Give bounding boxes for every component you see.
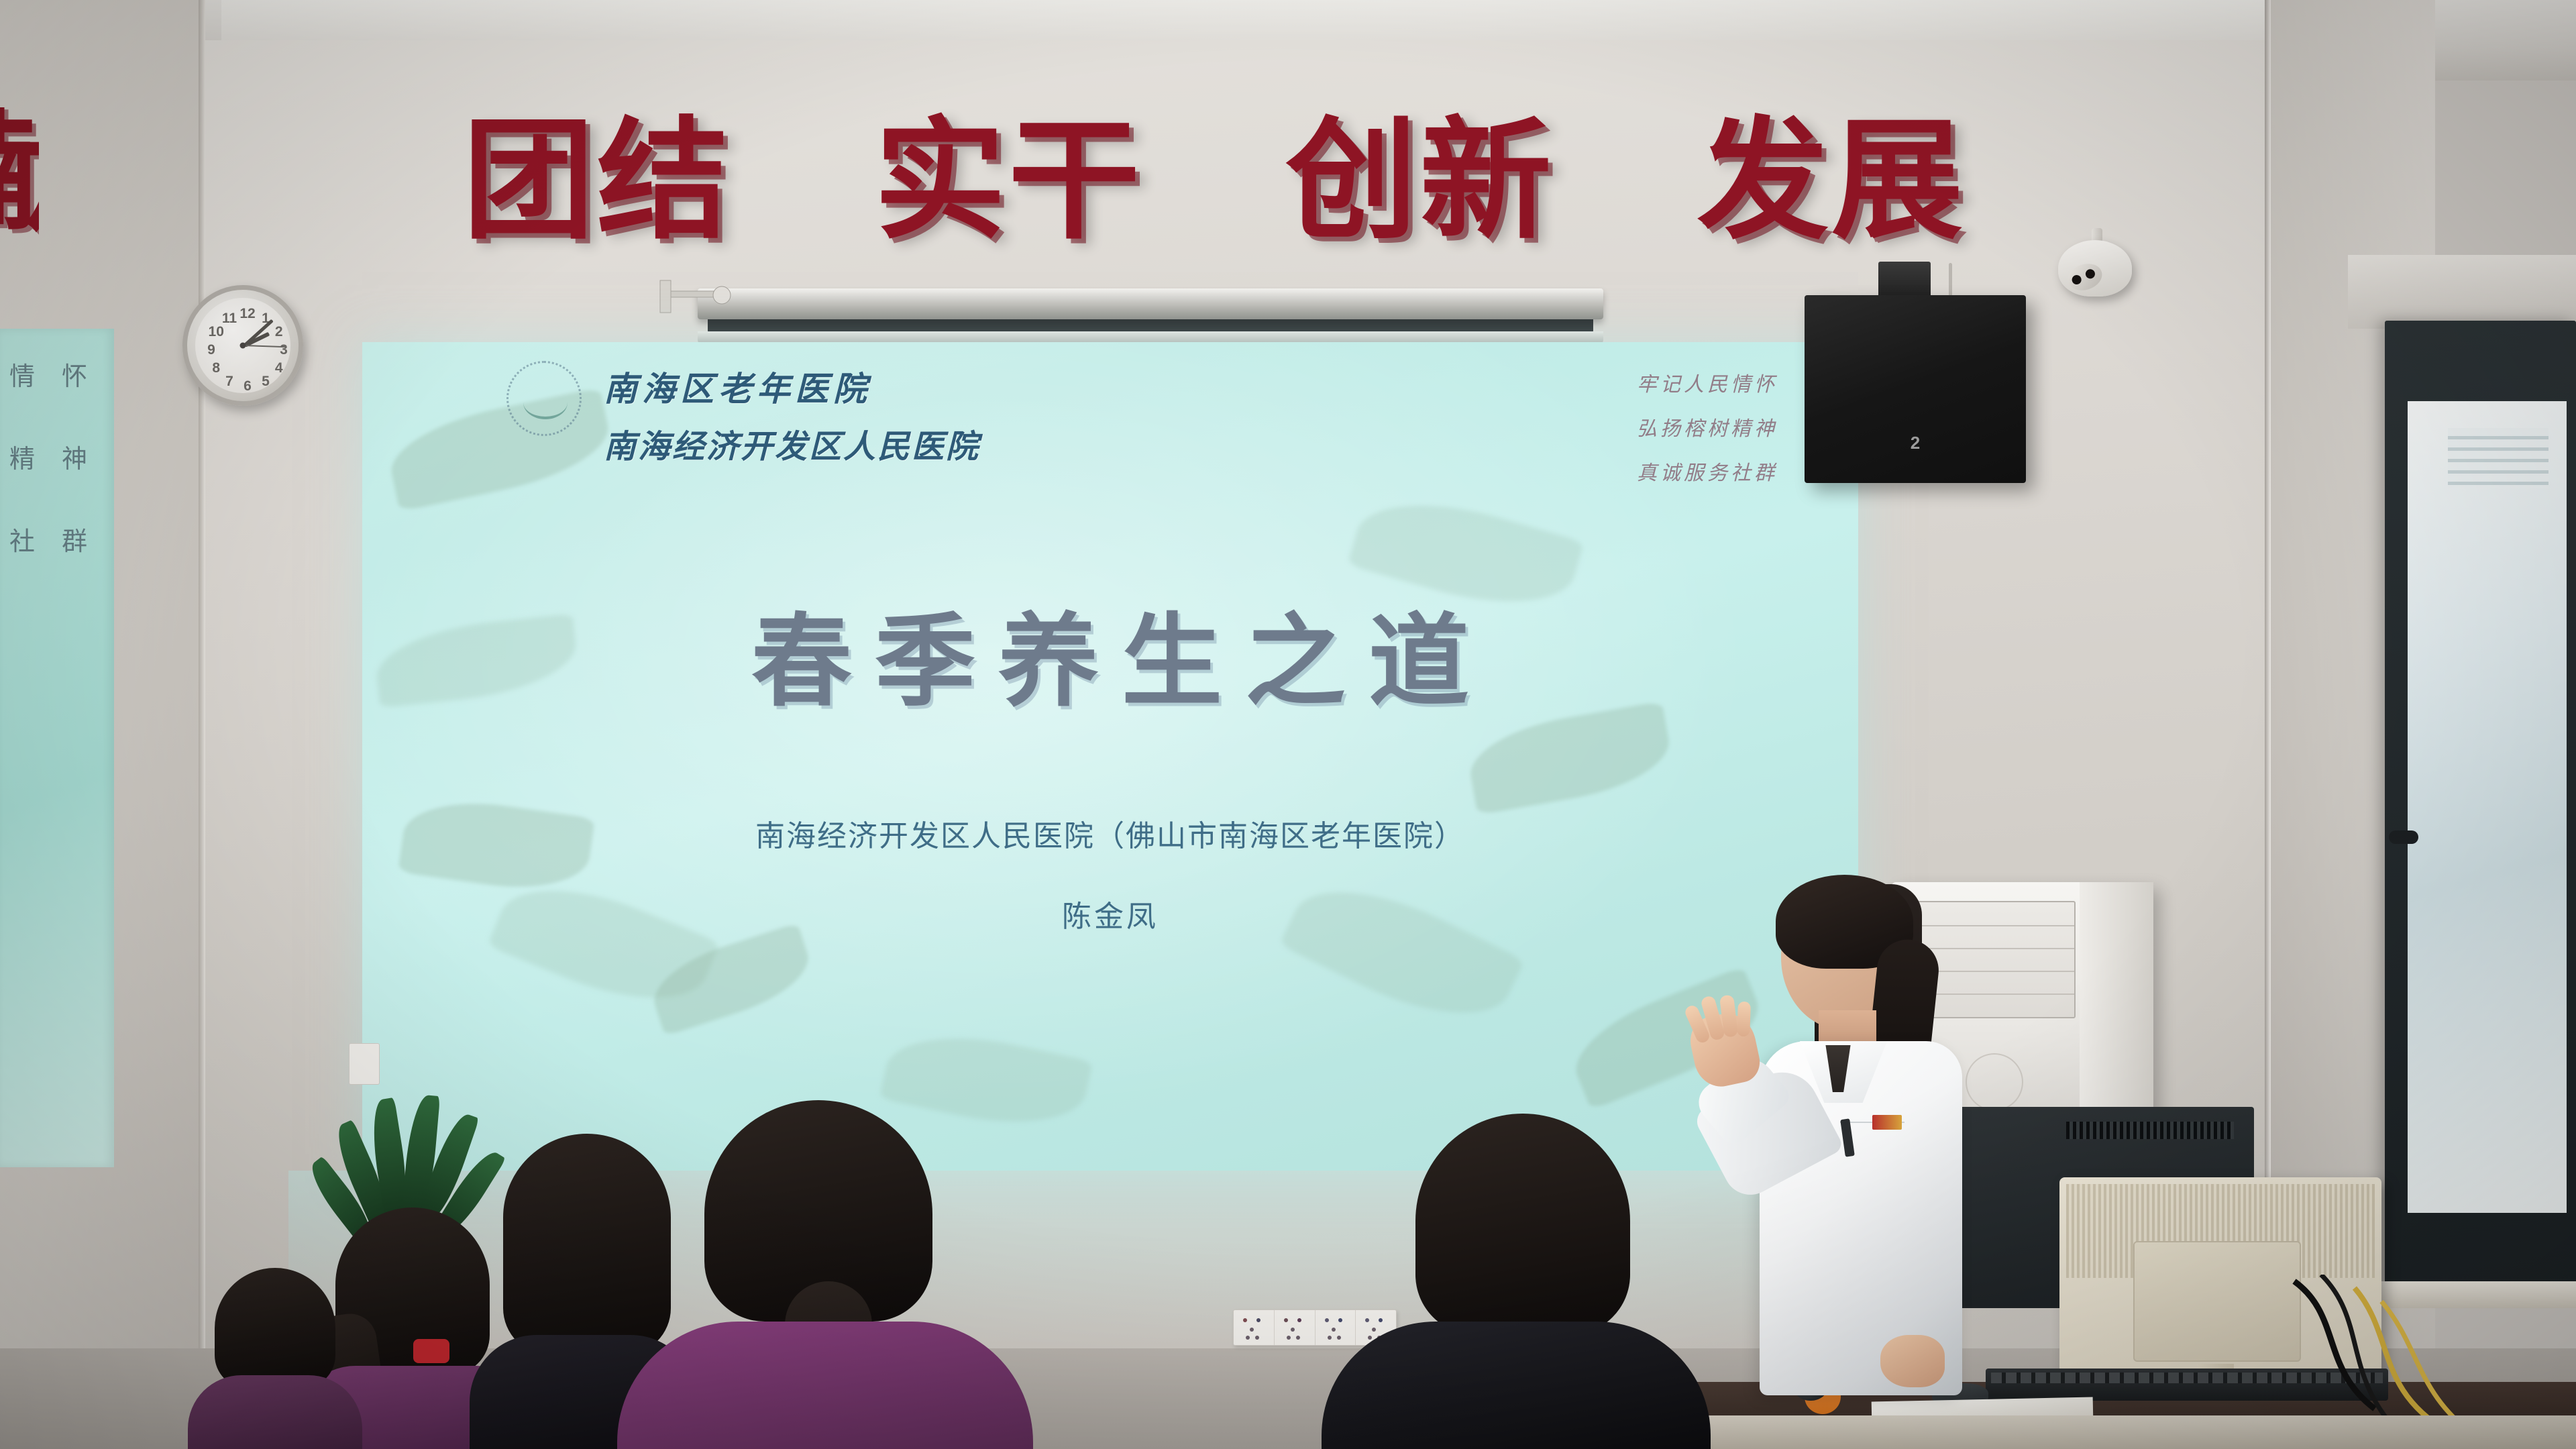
wall-clock: 121234567891011 — [182, 285, 303, 406]
aux-char-2: 精 — [9, 438, 35, 475]
desk-front-panel — [1690, 1415, 2576, 1449]
lecture-hall-photo: 献 团结 实干 创新 发展 情 精 社 怀 神 群 12123456789101… — [0, 0, 2576, 1449]
window-glass — [2408, 401, 2567, 1213]
slide-header-line-2: 南海经济开发区人民医院 — [604, 420, 980, 467]
slide-title: 春季养生之道 — [362, 580, 1858, 726]
slide-header-line-1: 南海区老年医院 — [604, 362, 980, 411]
audience-hair — [1415, 1114, 1630, 1335]
window-handle[interactable] — [2389, 830, 2418, 844]
clock-numeral: 5 — [262, 374, 270, 390]
projection-screen: 南海区老年医院 南海经济开发区人民医院 牢记人民情怀 弘扬榕树精神 真诚服务社群… — [362, 342, 1858, 1171]
hospital-seal-logo — [506, 361, 582, 436]
exterior-louvre — [2448, 428, 2548, 488]
aux-char-6: 群 — [62, 521, 87, 557]
wall-light-switch[interactable] — [349, 1043, 380, 1085]
aux-char-5: 神 — [62, 438, 87, 475]
aux-text-column-2: 怀 神 群 — [62, 356, 87, 557]
screen-roller-slot — [708, 319, 1593, 333]
camera-ir-dot — [2084, 268, 2096, 280]
clock-numeral: 12 — [239, 306, 255, 322]
partial-slogan-character: 献 — [0, 107, 39, 239]
slogan-word-4: 发展 — [1697, 115, 1966, 247]
audience-torso — [1322, 1322, 1711, 1449]
window-header-panel — [2348, 255, 2576, 329]
audience-member — [1322, 1114, 1711, 1449]
audience-member — [188, 1268, 362, 1449]
monitor-rear-housing — [2133, 1241, 2301, 1362]
window — [2385, 321, 2576, 1293]
clock-numeral: 6 — [244, 378, 252, 394]
clock-center-pin — [240, 343, 246, 349]
clock-numeral: 11 — [222, 311, 237, 327]
camera-lens — [2064, 260, 2105, 294]
clock-numeral: 3 — [280, 342, 288, 358]
audience-member — [617, 1100, 1033, 1449]
clock-numeral: 4 — [275, 360, 283, 376]
socket-2[interactable] — [1275, 1310, 1316, 1345]
projection-screen-housing — [698, 288, 1603, 319]
screen-mount-bracket — [657, 276, 738, 317]
left-wall-corner — [199, 0, 205, 1449]
speaker-label: 2 — [1911, 433, 1920, 453]
adjacent-projection-panel: 情 精 社 怀 神 群 — [0, 329, 114, 1167]
clock-numeral: 7 — [225, 374, 233, 390]
clock-numeral: 8 — [212, 360, 220, 376]
wall-slogan-banner: 团结 实干 创新 发展 — [463, 104, 1966, 258]
slide-motto-block: 牢记人民情怀 弘扬榕树精神 真诚服务社群 — [1637, 368, 1778, 486]
audience-torso — [617, 1322, 1033, 1449]
slide-subtitle: 南海经济开发区人民医院（佛山市南海区老年医院） — [362, 812, 1858, 855]
motto-line-2: 弘扬榕树精神 — [1637, 412, 1778, 441]
socket-1[interactable] — [1234, 1310, 1275, 1345]
audience-hair — [215, 1268, 335, 1389]
slogan-word-1: 团结 — [463, 115, 731, 247]
slogan-word-3: 创新 — [1286, 115, 1554, 247]
clock-numeral: 9 — [207, 342, 215, 358]
aux-char-4: 怀 — [62, 356, 87, 392]
presenter-lower-hand — [1880, 1335, 1945, 1387]
aux-text-column-1: 情 精 社 — [9, 356, 35, 557]
dome-security-camera-icon — [2058, 240, 2132, 297]
motto-line-1: 牢记人民情怀 — [1637, 368, 1778, 397]
clock-numeral: 2 — [275, 324, 283, 340]
motto-line-3: 真诚服务社群 — [1637, 456, 1778, 486]
wall-speaker: 2 — [1805, 295, 2026, 483]
slide-author: 陈金凤 — [362, 892, 1858, 935]
aux-char-3: 社 — [9, 521, 35, 557]
slogan-word-2: 实干 — [874, 115, 1142, 247]
slide-header: 南海区老年医院 南海经济开发区人民医院 — [604, 362, 980, 467]
presenter — [1687, 865, 2002, 1395]
audience-torso — [188, 1375, 362, 1449]
aux-char-1: 情 — [9, 356, 35, 392]
hair-clip — [413, 1339, 449, 1363]
presenter-badge — [1872, 1115, 1902, 1130]
cabinet-vent — [2066, 1122, 2234, 1139]
camera-sensor-dot — [2071, 274, 2083, 286]
